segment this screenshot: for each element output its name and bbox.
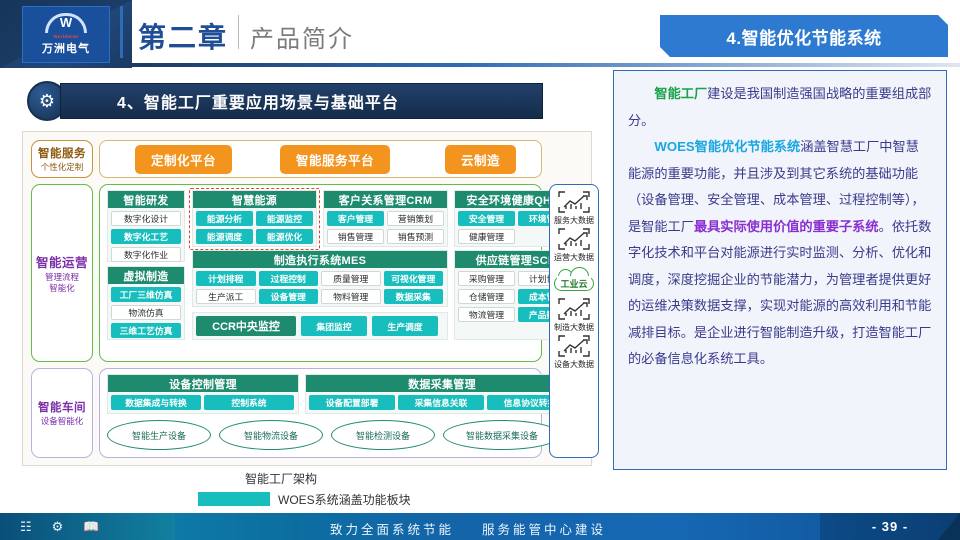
smart-factory-diagram: 智能服务 个性化定制 智能运营 管理流程 智能化 智能车间 设备智能化 定制化平…: [22, 131, 592, 466]
rail-item-service-bigdata[interactable]: 服务大数据: [554, 190, 594, 226]
chart-bigdata-icon: [557, 190, 591, 214]
rail-item-operation-bigdata[interactable]: 运营大数据: [554, 227, 594, 263]
chip-plan-scheduling[interactable]: 计划排程: [196, 271, 256, 286]
chip-energy-monitor[interactable]: 能源监控: [256, 211, 313, 226]
cloud-icon[interactable]: 工业云: [552, 267, 596, 293]
keyword-woes: WOES智能优化节能系统: [654, 139, 800, 154]
page-number: - 39 -: [872, 519, 908, 534]
module-header: CCR中央监控: [196, 316, 296, 336]
platform-custom[interactable]: 定制化平台: [135, 145, 232, 174]
module-header: 智能研发: [108, 191, 184, 208]
rail-label: 服务大数据: [554, 215, 594, 226]
module-header: 设备控制管理: [108, 375, 298, 392]
module-header: 虚拟制造: [108, 267, 184, 284]
chip-energy-optimize[interactable]: 能源优化: [256, 229, 313, 244]
chip-production-scheduling[interactable]: 生产调度: [372, 316, 438, 336]
chip-data-integration[interactable]: 数据集成与转换: [111, 395, 201, 410]
module-header: 数据采集管理: [306, 375, 578, 392]
pillar-title: 智能服务: [38, 145, 86, 161]
chip-logistics-sim[interactable]: 物流仿真: [111, 305, 181, 320]
rail-item-device-bigdata[interactable]: 设备大数据: [554, 334, 594, 370]
module-mes: 制造执行系统MES 计划排程 过程控制 质量管理 可视化管理 生产派工 设备管理…: [192, 250, 448, 307]
rail-label: 设备大数据: [554, 359, 594, 370]
footer-slogan-2: 服务能管中心建设: [482, 519, 606, 538]
description-panel: 智能工厂建设是我国制造强国战略的重要组成部分。 WOES智能优化节能系统涵盖智慧…: [613, 70, 947, 470]
chip-digital-operation[interactable]: 数字化作业: [111, 247, 181, 262]
pillar-title: 智能车间: [38, 399, 86, 415]
chip-customer-mgmt[interactable]: 客户管理: [327, 211, 384, 226]
rail-item-manufacturing-bigdata[interactable]: 制造大数据: [554, 297, 594, 333]
equipment-production[interactable]: 智能生产设备: [107, 420, 211, 450]
chapter-title: 第二章: [138, 16, 228, 56]
footer-icons: ☷ ⚙ 📖: [0, 513, 175, 540]
sitemap-icon[interactable]: ☷: [20, 519, 32, 535]
pillar-subtitle: 个性化定制: [41, 162, 84, 173]
chart-bigdata-icon: [557, 297, 591, 321]
chip-visual-mgmt[interactable]: 可视化管理: [384, 271, 444, 286]
module-data-collect: 数据采集管理 设备配置部署 采集信息关联 信息协议转换: [305, 374, 579, 414]
platform-band: 定制化平台 智能服务平台 云制造: [99, 140, 542, 178]
module-rnd: 智能研发 数字化设计 数字化工艺 数字化作业: [107, 190, 185, 262]
chip-control-system[interactable]: 控制系统: [204, 395, 294, 410]
pillar-title: 智能运营: [36, 252, 88, 271]
logo-letter: W: [45, 15, 87, 31]
module-smart-energy: 智慧能源 能源分析 能源监控 能源调度 能源优化: [192, 190, 317, 247]
legend-label: WOES系统涵盖功能板块: [278, 491, 411, 508]
module-header: 客户关系管理CRM: [324, 191, 447, 208]
chip-marketing-plan[interactable]: 营销策划: [387, 211, 444, 226]
module-device-control: 设备控制管理 数据集成与转换 控制系统: [107, 374, 299, 414]
pillar-smart-operation: 智能运营 管理流程 智能化: [31, 184, 93, 362]
header-rule: [132, 63, 960, 67]
chip-energy-analysis[interactable]: 能源分析: [196, 211, 253, 226]
section-title-bar: 4、智能工厂重要应用场景与基础平台: [60, 83, 543, 119]
chip-equipment-mgmt[interactable]: 设备管理: [259, 289, 319, 304]
chip-purchase-mgmt[interactable]: 采购管理: [458, 271, 515, 286]
chip-digital-design[interactable]: 数字化设计: [111, 211, 181, 226]
chip-group-monitor[interactable]: 集团监控: [301, 316, 367, 336]
company-logo: W Worldwide 万洲电气: [22, 6, 110, 63]
pillar-subtitle: 管理流程 智能化: [45, 272, 79, 294]
pillar-smart-workshop: 智能车间 设备智能化: [31, 368, 93, 458]
logo-brand-en: Worldwide: [53, 34, 78, 39]
topic-badge: 4.智能优化节能系统: [660, 15, 948, 57]
bigdata-rail: 服务大数据 运营大数据 工业云 制造大数据: [549, 184, 599, 458]
chip-process-control[interactable]: 过程控制: [259, 271, 319, 286]
chip-factory-3d-sim[interactable]: 工厂三维仿真: [111, 287, 181, 302]
chip-data-acquisition[interactable]: 数据采集: [384, 289, 444, 304]
chip-health-mgmt[interactable]: 健康管理: [458, 229, 515, 244]
chip-energy-dispatch[interactable]: 能源调度: [196, 229, 253, 244]
panel-paragraph-1: 智能工厂建设是我国制造强国战略的重要组成部分。: [628, 81, 932, 134]
platform-cloud-mfg[interactable]: 云制造: [445, 145, 516, 174]
chip-sales-forecast[interactable]: 销售预测: [387, 229, 444, 244]
chip-production-dispatch[interactable]: 生产派工: [196, 289, 256, 304]
platform-service[interactable]: 智能服务平台: [280, 145, 390, 174]
chip-material-mgmt[interactable]: 物料管理: [321, 289, 381, 304]
logo-mark-icon: W: [45, 13, 87, 33]
legend-swatch: [198, 492, 270, 506]
section-title-text: 4、智能工厂重要应用场景与基础平台: [117, 89, 399, 113]
module-crm: 客户关系管理CRM 客户管理 营销策划 销售管理 销售预测: [323, 190, 448, 247]
rail-label: 运营大数据: [554, 252, 594, 263]
keyword-smart-factory: 智能工厂: [654, 86, 707, 101]
chip-warehouse-mgmt[interactable]: 仓储管理: [458, 289, 515, 304]
title-divider: [238, 15, 239, 49]
chip-collect-info-link[interactable]: 采集信息关联: [398, 395, 484, 410]
chip-digital-process[interactable]: 数字化工艺: [111, 229, 181, 244]
chapter-subtitle: 产品简介: [250, 19, 354, 54]
gear-icon[interactable]: ⚙: [52, 519, 64, 535]
chart-bigdata-icon: [557, 227, 591, 251]
module-ccr: CCR中央监控 集团监控 生产调度: [192, 312, 448, 340]
chip-logistics-mgmt[interactable]: 物流管理: [458, 307, 515, 322]
panel-paragraph-2: WOES智能优化节能系统涵盖智慧工厂中智慧能源的重要功能，并且涉及到其它系统的基…: [628, 134, 932, 373]
chip-sales-mgmt[interactable]: 销售管理: [327, 229, 384, 244]
logo-brand-cn: 万洲电气: [42, 40, 90, 56]
pillar-subtitle: 设备智能化: [41, 416, 84, 427]
chip-quality-mgmt[interactable]: 质量管理: [321, 271, 381, 286]
cloud-label: 工业云: [560, 277, 587, 290]
module-header: 智慧能源: [193, 191, 316, 208]
footer-page-area: - 39 -: [820, 513, 960, 540]
diagram-caption: 智能工厂架构: [245, 470, 317, 487]
equipment-logistics[interactable]: 智能物流设备: [219, 420, 323, 450]
rail-label: 制造大数据: [554, 322, 594, 333]
header-separator: [120, 6, 123, 58]
chart-bigdata-icon: [557, 334, 591, 358]
chip-3d-process-sim[interactable]: 三维工艺仿真: [111, 323, 181, 338]
panel-p2-rest: 。依托数字化技术和平台对能源进行实时监测、分析、优化和调度，深度挖掘企业的节能潜…: [628, 219, 931, 367]
chip-device-config-deploy[interactable]: 设备配置部署: [309, 395, 395, 410]
equipment-inspection[interactable]: 智能检测设备: [331, 420, 435, 450]
chip-safety-mgmt[interactable]: 安全管理: [458, 211, 515, 226]
keyword-most-valuable: 最具实际使用价值的重要子系统: [694, 219, 879, 234]
book-icon[interactable]: 📖: [83, 519, 99, 535]
module-header: 制造执行系统MES: [193, 251, 447, 268]
pillar-smart-service: 智能服务 个性化定制: [31, 140, 93, 178]
footer-slogan-1: 致力全面系统节能: [330, 519, 454, 538]
module-virtual-mfg: 虚拟制造 工厂三维仿真 物流仿真 三维工艺仿真: [107, 266, 185, 340]
equipment-data-collect[interactable]: 智能数据采集设备: [443, 420, 561, 450]
